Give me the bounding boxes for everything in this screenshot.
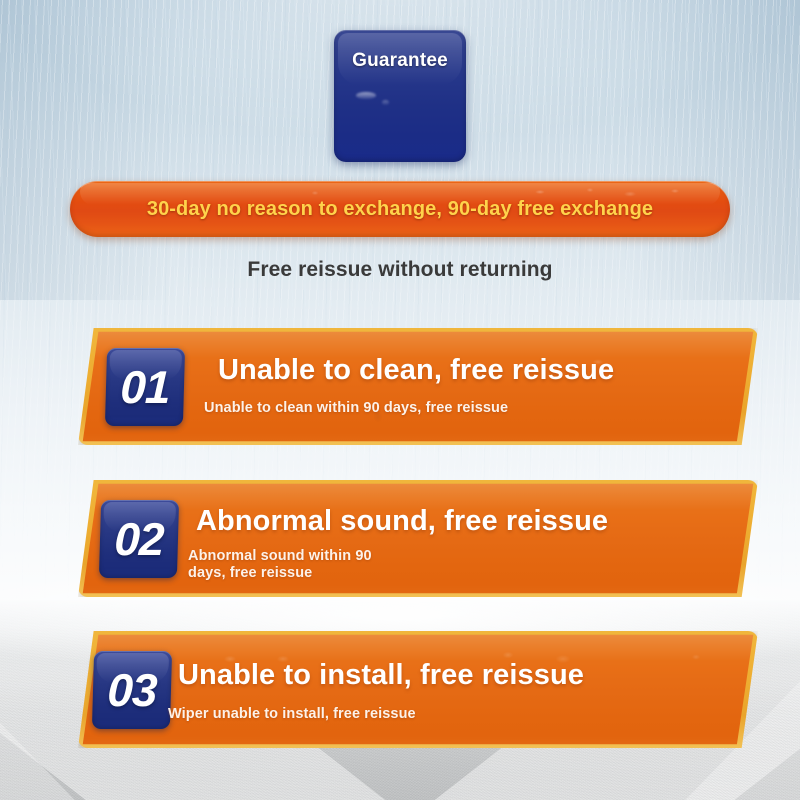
benefit-card-02: 02 Abnormal sound, free reissue Abnormal… [78,480,758,597]
headline-pill-banner: 30-day no reason to exchange, 90-day fre… [70,181,730,237]
card-subtitle: Abnormal sound within 90 days, free reis… [188,548,388,582]
card-number-label: 01 [105,348,185,426]
benefit-card-03: 03 Unable to install, free reissue Wiper… [78,631,758,748]
guarantee-badge: Guarantee [334,30,466,162]
card-subtitle: Unable to clean within 90 days, free rei… [204,400,508,417]
card-title: Abnormal sound, free reissue [196,505,608,538]
benefit-card-01: 01 Unable to clean, free reissue Unable … [78,328,758,445]
card-number-badge: 02 [99,500,179,578]
card-subtitle: Wiper unable to install, free reissue [168,706,416,723]
card-number-badge: 03 [92,651,172,729]
water-droplets-overlay [78,480,758,597]
card-title: Unable to clean, free reissue [218,354,614,387]
card-number-label: 03 [92,651,172,729]
card-number-badge: 01 [105,348,185,426]
card-number-label: 02 [99,500,179,578]
water-droplet-icon [356,92,376,99]
subhead-text: Free reissue without returning [0,258,800,282]
guarantee-badge-label: Guarantee [334,50,466,72]
card-title: Unable to install, free reissue [178,659,584,692]
headline-pill-text: 30-day no reason to exchange, 90-day fre… [70,181,730,237]
card-orange-face [78,480,758,597]
promo-graphic: Guarantee 30-day no reason to exchange, … [0,0,800,800]
water-droplet-icon [382,100,389,105]
